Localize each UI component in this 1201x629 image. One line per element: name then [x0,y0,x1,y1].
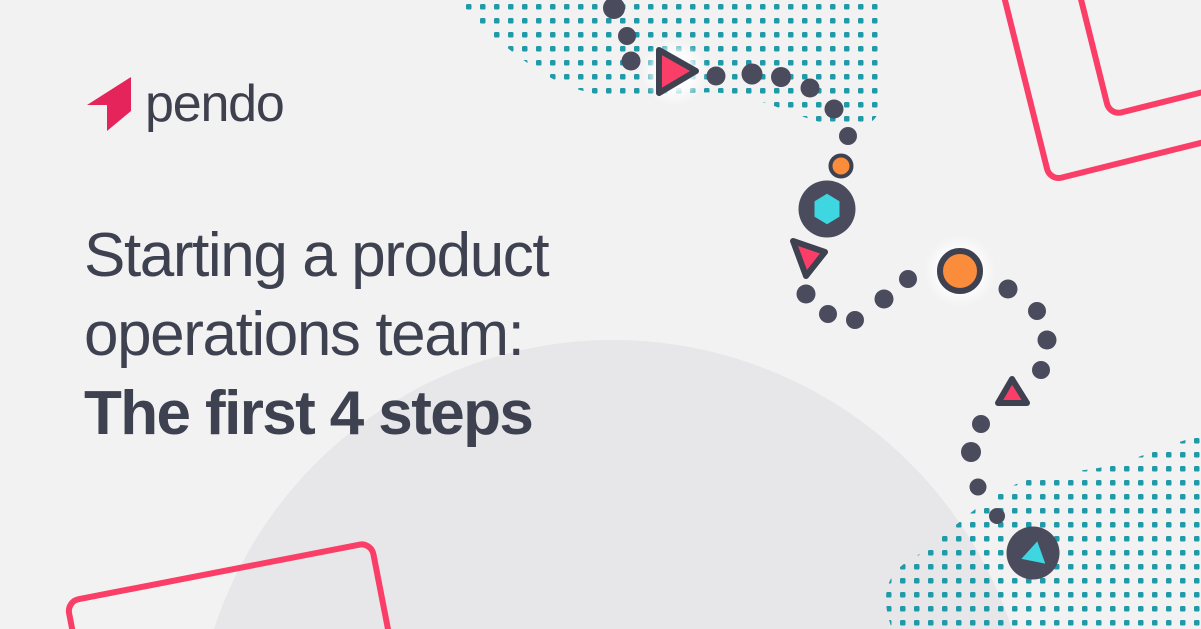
headline-line-2: operations team: [84,295,724,374]
orange-dot-small [831,156,852,177]
pink-triangle-top [640,38,708,106]
orange-circle-large [924,235,996,307]
pendo-wordmark: pendo [145,78,284,130]
pink-triangle-middle [793,241,825,276]
cyan-hexagon-badge [799,181,856,238]
pendo-logo[interactable]: pendo [86,76,284,132]
dotted-blob-bottom-right [860,410,1201,629]
promo-card: pendo Starting a product operations team… [0,0,1201,629]
page-title: Starting a product operations team: The … [84,216,724,453]
pink-frame-top-right-outer [989,0,1201,181]
headline-line-1: Starting a product [84,216,724,295]
headline-line-3: The first 4 steps [84,374,724,453]
pink-frame-bottom-left [67,542,411,629]
pendo-arrow-logo-icon [86,76,132,132]
pink-frame-top-right-inner [1062,0,1201,115]
cyan-triangle-badge [1007,527,1060,580]
pink-triangle-lower [998,379,1027,403]
